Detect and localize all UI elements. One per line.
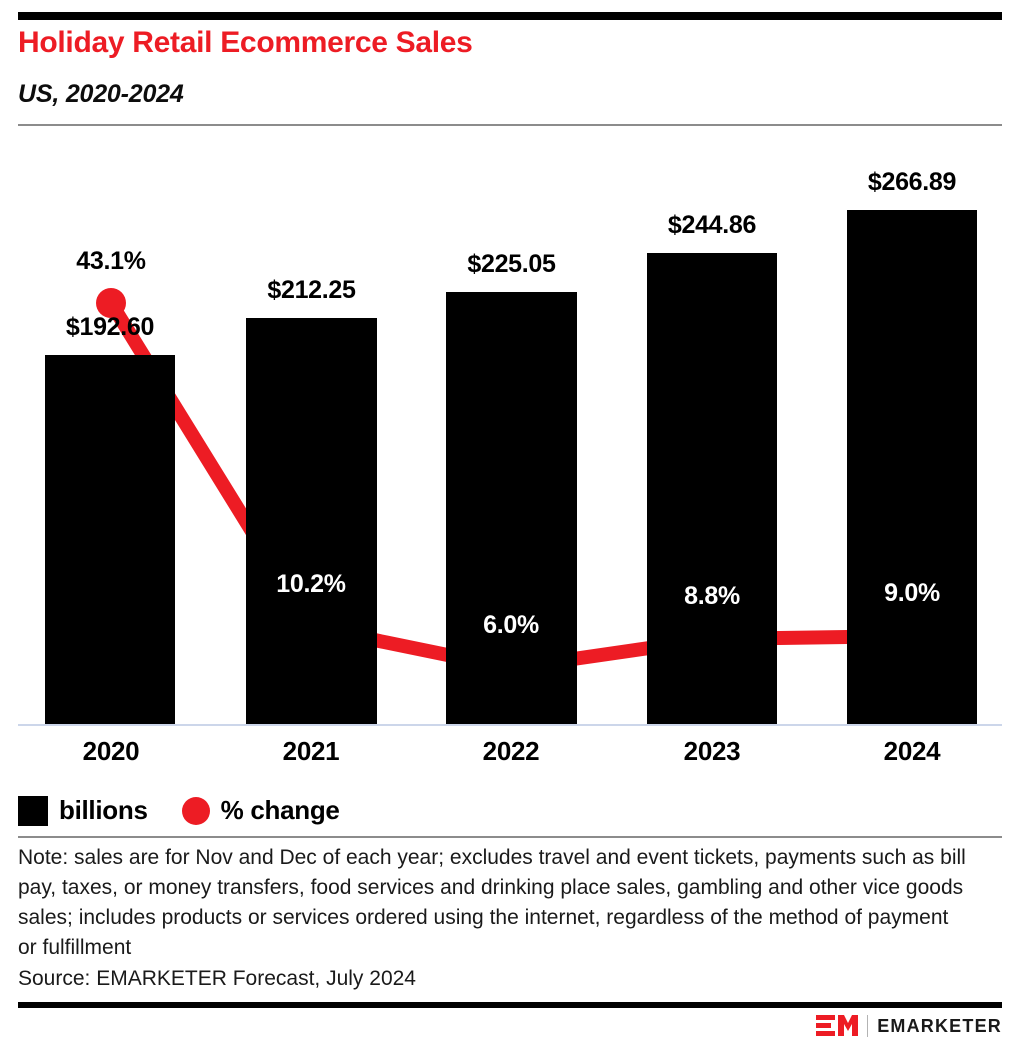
bar-2023 <box>647 253 777 724</box>
percent-change-label-2024: 9.0% <box>842 579 982 608</box>
line-marker-2024 <box>897 621 927 651</box>
x-axis-tick-2022: 2022 <box>441 736 581 767</box>
bar-2024 <box>847 210 977 724</box>
chart-note: Note: sales are for Nov and Dec of each … <box>18 843 968 963</box>
line-marker-2022 <box>496 653 526 683</box>
percent-change-line <box>111 303 912 668</box>
header-divider <box>18 124 1002 126</box>
bar-2020 <box>45 355 175 724</box>
page-subtitle: US, 2020-2024 <box>18 80 184 109</box>
emarketer-wordmark: EMARKETER <box>877 1016 1002 1037</box>
bar-2021 <box>246 318 377 724</box>
x-axis-tick-2023: 2023 <box>642 736 782 767</box>
chart-source: Source: EMARKETER Forecast, July 2024 <box>18 964 416 994</box>
legend-label-percent-change: % change <box>221 795 340 826</box>
bar-value-label-2024: $266.89 <box>847 168 977 197</box>
line-marker-2023 <box>697 624 727 654</box>
bar-value-label-2023: $244.86 <box>647 211 777 240</box>
bar-value-label-2022: $225.05 <box>446 250 577 279</box>
x-axis-tick-2020: 2020 <box>41 736 181 767</box>
emarketer-logo: EMARKETER <box>816 1013 1002 1039</box>
chart-page: Holiday Retail Ecommerce Sales US, 2020-… <box>0 0 1020 1048</box>
x-axis-tick-2024: 2024 <box>842 736 982 767</box>
bar-value-label-2021: $212.25 <box>246 276 377 305</box>
line-marker-2020 <box>96 288 126 318</box>
percent-change-label-2020: 43.1% <box>41 247 181 276</box>
em-logomark-icon <box>816 1014 858 1038</box>
legend-item-billions: billions <box>18 795 148 826</box>
square-swatch-icon <box>18 796 48 826</box>
bottom-rule-divider <box>18 1002 1002 1008</box>
x-axis-line <box>18 724 1002 726</box>
chart-legend: billions % change <box>18 795 340 826</box>
legend-label-billions: billions <box>59 795 148 826</box>
legend-item-percent-change: % change <box>182 795 340 826</box>
logo-divider <box>867 1015 868 1037</box>
circle-swatch-icon <box>182 797 210 825</box>
percent-change-label-2022: 6.0% <box>441 611 581 640</box>
percent-change-label-2021: 10.2% <box>241 570 381 599</box>
x-axis-tick-2021: 2021 <box>241 736 381 767</box>
line-marker-2021 <box>296 612 326 642</box>
bar-value-label-2020: $192.60 <box>45 313 175 342</box>
notes-divider <box>18 836 1002 838</box>
bar-2022 <box>446 292 577 724</box>
page-title: Holiday Retail Ecommerce Sales <box>18 26 473 60</box>
top-rule-divider <box>18 12 1002 20</box>
percent-change-label-2023: 8.8% <box>642 582 782 611</box>
